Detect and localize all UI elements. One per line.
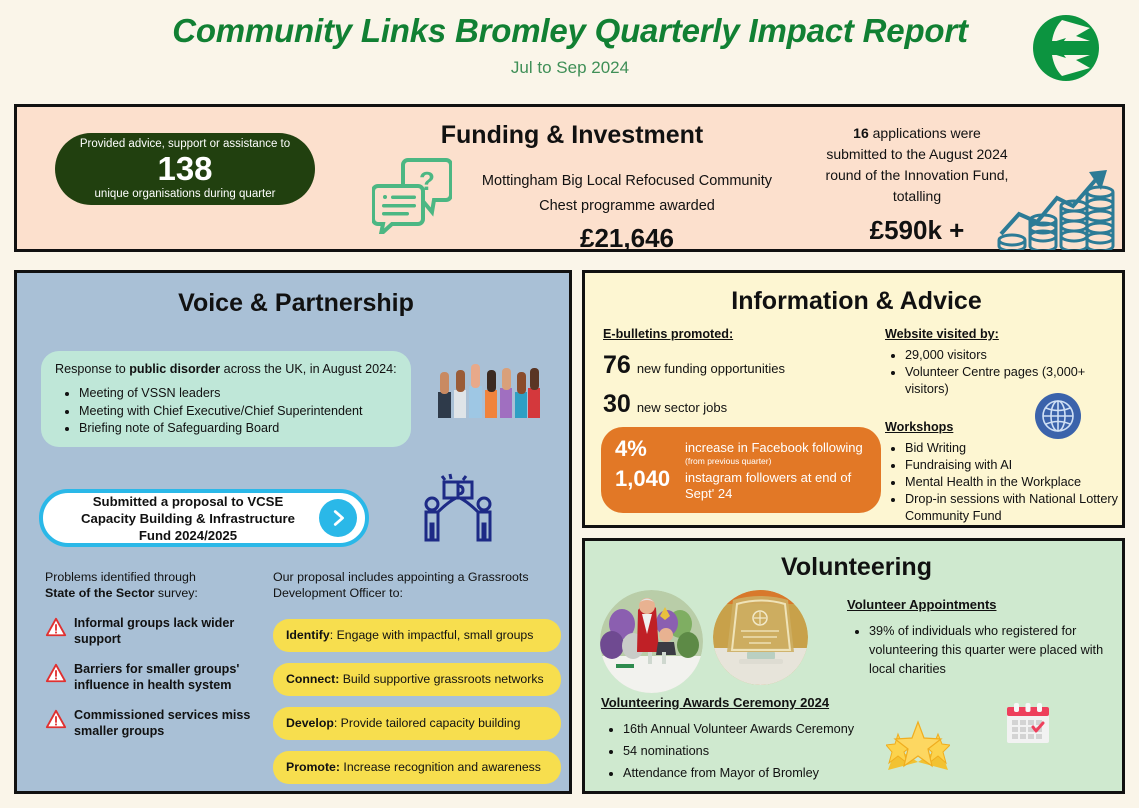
report-header: Community Links Bromley Quarterly Impact… bbox=[0, 0, 1139, 100]
vcse-proposal-line1: Submitted a proposal to VCSE bbox=[57, 493, 319, 510]
calendar-icon bbox=[1004, 700, 1052, 748]
stat-label: new funding opportunities bbox=[637, 361, 785, 376]
social-media-stats-box: 4% increase in Facebook following (from … bbox=[601, 427, 881, 513]
stat-label: new sector jobs bbox=[637, 400, 727, 415]
vcse-proposal-line3: Fund 2024/2025 bbox=[57, 527, 319, 544]
proposal-bar-identify: Identify: Engage with impactful, small g… bbox=[273, 619, 561, 652]
innovation-fund-line3: round of the Innovation Fund, bbox=[807, 165, 1027, 186]
funding-investment-panel: Funding & Investment Provided advice, su… bbox=[14, 104, 1125, 252]
stat-number: 30 bbox=[603, 390, 631, 419]
public-disorder-intro: Response to public disorder across the U… bbox=[55, 361, 397, 378]
globe-icon bbox=[1034, 392, 1082, 440]
instagram-stat-row: 1,040 instagram followers at end of Sept… bbox=[615, 466, 867, 502]
innovation-fund-line4: totalling bbox=[807, 186, 1027, 207]
problems-identified-block: Problems identified through State of the… bbox=[45, 569, 267, 739]
list-item: Volunteer Centre pages (3,000+ visitors) bbox=[905, 364, 1125, 398]
website-list: 29,000 visitors Volunteer Centre pages (… bbox=[885, 347, 1125, 398]
innovation-fund-block: 16 applications were submitted to the Au… bbox=[807, 123, 1027, 246]
list-item: Bid Writing bbox=[905, 440, 1125, 457]
website-heading: Website visited by: bbox=[885, 327, 1125, 341]
instagram-followers-number: 1,040 bbox=[615, 466, 685, 492]
problems-intro-bold: State of the Sector bbox=[45, 586, 154, 600]
facebook-stat-label: increase in Facebook following bbox=[685, 440, 863, 455]
list-item: Commissioned services miss smaller group… bbox=[45, 707, 267, 739]
public-disorder-response-box: Response to public disorder across the U… bbox=[41, 351, 411, 447]
funding-awarded-block: Mottingham Big Local Refocused Community… bbox=[472, 169, 782, 254]
growth-chart-coins-icon bbox=[995, 164, 1115, 250]
proposal-bar-text: Build supportive grassroots networks bbox=[339, 672, 543, 686]
list-item: Meeting of VSSN leaders bbox=[79, 385, 397, 403]
ebulletin-stat-jobs: 30 new sector jobs bbox=[603, 390, 869, 419]
funding-awarded-amount: £21,646 bbox=[472, 223, 782, 254]
awards-ceremony-block: Volunteering Awards Ceremony 2024 16th A… bbox=[601, 695, 891, 784]
speech-bubbles-question-icon: ? bbox=[372, 156, 452, 234]
innovation-fund-total: £590k + bbox=[807, 215, 1027, 246]
volunteer-appointments-block: Volunteer Appointments 39% of individual… bbox=[847, 597, 1115, 679]
public-disorder-intro-post: across the UK, in August 2024: bbox=[220, 362, 396, 376]
innovation-fund-line1-rest: applications were bbox=[869, 125, 981, 141]
public-disorder-intro-bold: public disorder bbox=[129, 362, 220, 376]
warning-triangle-icon bbox=[45, 662, 67, 684]
problem-text: Barriers for smaller groups' influence i… bbox=[74, 661, 267, 693]
vcse-proposal-line2: Capacity Building & Infrastructure bbox=[57, 510, 319, 527]
vcse-proposal-label: Submitted a proposal to VCSE Capacity Bu… bbox=[43, 493, 319, 544]
grassroots-proposal-intro: Our proposal includes appointing a Grass… bbox=[273, 569, 561, 601]
report-period: Jul to Sep 2024 bbox=[130, 58, 1010, 78]
innovation-fund-application-count: 16 bbox=[853, 125, 869, 141]
facebook-increase-number: 4% bbox=[615, 436, 685, 462]
volunteering-panel-title: Volunteering bbox=[585, 553, 1128, 582]
organisations-helped-stat: Provided advice, support or assistance t… bbox=[55, 133, 315, 205]
ebulletins-block: E-bulletins promoted: 76 new funding opp… bbox=[603, 327, 869, 419]
list-item: Barriers for smaller groups' influence i… bbox=[45, 661, 267, 693]
mayor-at-awards-ceremony-photo bbox=[600, 590, 703, 693]
instagram-stat-text: instagram followers at end of Sept' 24 bbox=[685, 466, 867, 502]
warning-triangle-icon bbox=[45, 616, 67, 638]
voice-panel-title: Voice & Partnership bbox=[17, 289, 575, 318]
list-item: Drop-in sessions with National Lottery C… bbox=[905, 491, 1125, 525]
proposal-bar-text: Provide tailored capacity building bbox=[337, 716, 520, 730]
problems-intro-line1: Problems identified through bbox=[45, 570, 196, 584]
funding-panel-title: Funding & Investment bbox=[347, 121, 797, 150]
facebook-stat-subnote: (from previous quarter) bbox=[685, 456, 863, 466]
funding-awarded-line2: Chest programme awarded bbox=[472, 194, 782, 219]
organisations-helped-caption-bottom: unique organisations during quarter bbox=[55, 187, 315, 201]
infographic-page: Community Links Bromley Quarterly Impact… bbox=[0, 0, 1139, 808]
list-item: 16th Annual Volunteer Awards Ceremony bbox=[623, 718, 891, 740]
ebulletin-stat-funding: 76 new funding opportunities bbox=[603, 351, 869, 380]
volunteer-appointments-list: 39% of individuals who registered for vo… bbox=[847, 622, 1115, 679]
list-item: 54 nominations bbox=[623, 740, 891, 762]
list-item: 39% of individuals who registered for vo… bbox=[869, 622, 1115, 679]
community-links-bromley-logo bbox=[1026, 8, 1106, 88]
award-stars-icon bbox=[886, 718, 950, 770]
ebulletins-heading: E-bulletins promoted: bbox=[603, 327, 869, 341]
partnership-puzzle-people-icon bbox=[418, 466, 498, 546]
list-item: Meeting with Chief Executive/Chief Super… bbox=[79, 403, 397, 421]
proposal-bar-label: Develop bbox=[286, 716, 334, 730]
awards-ceremony-heading: Volunteering Awards Ceremony 2024 bbox=[601, 695, 891, 710]
facebook-stat-row: 4% increase in Facebook following (from … bbox=[615, 436, 867, 466]
innovation-fund-line2: submitted to the August 2024 bbox=[807, 144, 1027, 165]
proposal-bar-label: Promote: bbox=[286, 760, 340, 774]
problem-text: Commissioned services miss smaller group… bbox=[74, 707, 267, 739]
volunteer-appointments-heading: Volunteer Appointments bbox=[847, 597, 1115, 612]
list-item: 29,000 visitors bbox=[905, 347, 1125, 364]
public-disorder-intro-pre: Response to bbox=[55, 362, 129, 376]
organisations-helped-caption-top: Provided advice, support or assistance t… bbox=[55, 137, 315, 151]
list-item: Briefing note of Safeguarding Board bbox=[79, 420, 397, 438]
glass-award-trophy-photo bbox=[713, 590, 808, 685]
list-item: Informal groups lack wider support bbox=[45, 615, 267, 647]
raised-hands-icon bbox=[432, 356, 542, 420]
list-item: Fundraising with AI bbox=[905, 457, 1125, 474]
vcse-proposal-button[interactable]: Submitted a proposal to VCSE Capacity Bu… bbox=[39, 489, 369, 547]
innovation-fund-line1: 16 applications were bbox=[807, 123, 1027, 144]
proposal-bar-label: Connect: bbox=[286, 672, 339, 686]
stat-number: 76 bbox=[603, 351, 631, 380]
proposal-bar-connect: Connect: Build supportive grassroots net… bbox=[273, 663, 561, 696]
awards-ceremony-list: 16th Annual Volunteer Awards Ceremony 54… bbox=[601, 718, 891, 784]
public-disorder-list: Meeting of VSSN leaders Meeting with Chi… bbox=[55, 385, 397, 438]
problems-intro-post: survey: bbox=[154, 586, 197, 600]
grassroots-proposal-block: Our proposal includes appointing a Grass… bbox=[273, 569, 561, 784]
proposal-bar-promote: Promote: Increase recognition and awaren… bbox=[273, 751, 561, 784]
proposal-bar-text: Engage with impactful, small groups bbox=[333, 628, 533, 642]
organisations-helped-number: 138 bbox=[55, 151, 315, 187]
proposal-bar-develop: Develop: Provide tailored capacity build… bbox=[273, 707, 561, 740]
chevron-right-icon[interactable] bbox=[319, 499, 357, 537]
facebook-stat-text: increase in Facebook following (from pre… bbox=[685, 436, 863, 466]
proposal-bar-text: Increase recognition and awareness bbox=[340, 760, 541, 774]
list-item: Attendance from Mayor of Bromley bbox=[623, 762, 891, 784]
info-panel-title: Information & Advice bbox=[585, 287, 1128, 316]
website-workshops-block: Website visited by: 29,000 visitors Volu… bbox=[885, 327, 1125, 525]
page-title: Community Links Bromley Quarterly Impact… bbox=[130, 12, 1010, 50]
funding-awarded-line1: Mottingham Big Local Refocused Community bbox=[472, 169, 782, 194]
proposal-bar-label: Identify bbox=[286, 628, 330, 642]
warning-triangle-icon bbox=[45, 708, 67, 730]
workshops-heading: Workshops bbox=[885, 420, 1125, 434]
problem-text: Informal groups lack wider support bbox=[74, 615, 267, 647]
problems-intro: Problems identified through State of the… bbox=[45, 569, 267, 601]
workshops-list: Bid Writing Fundraising with AI Mental H… bbox=[885, 440, 1125, 525]
list-item: Mental Health in the Workplace bbox=[905, 474, 1125, 491]
